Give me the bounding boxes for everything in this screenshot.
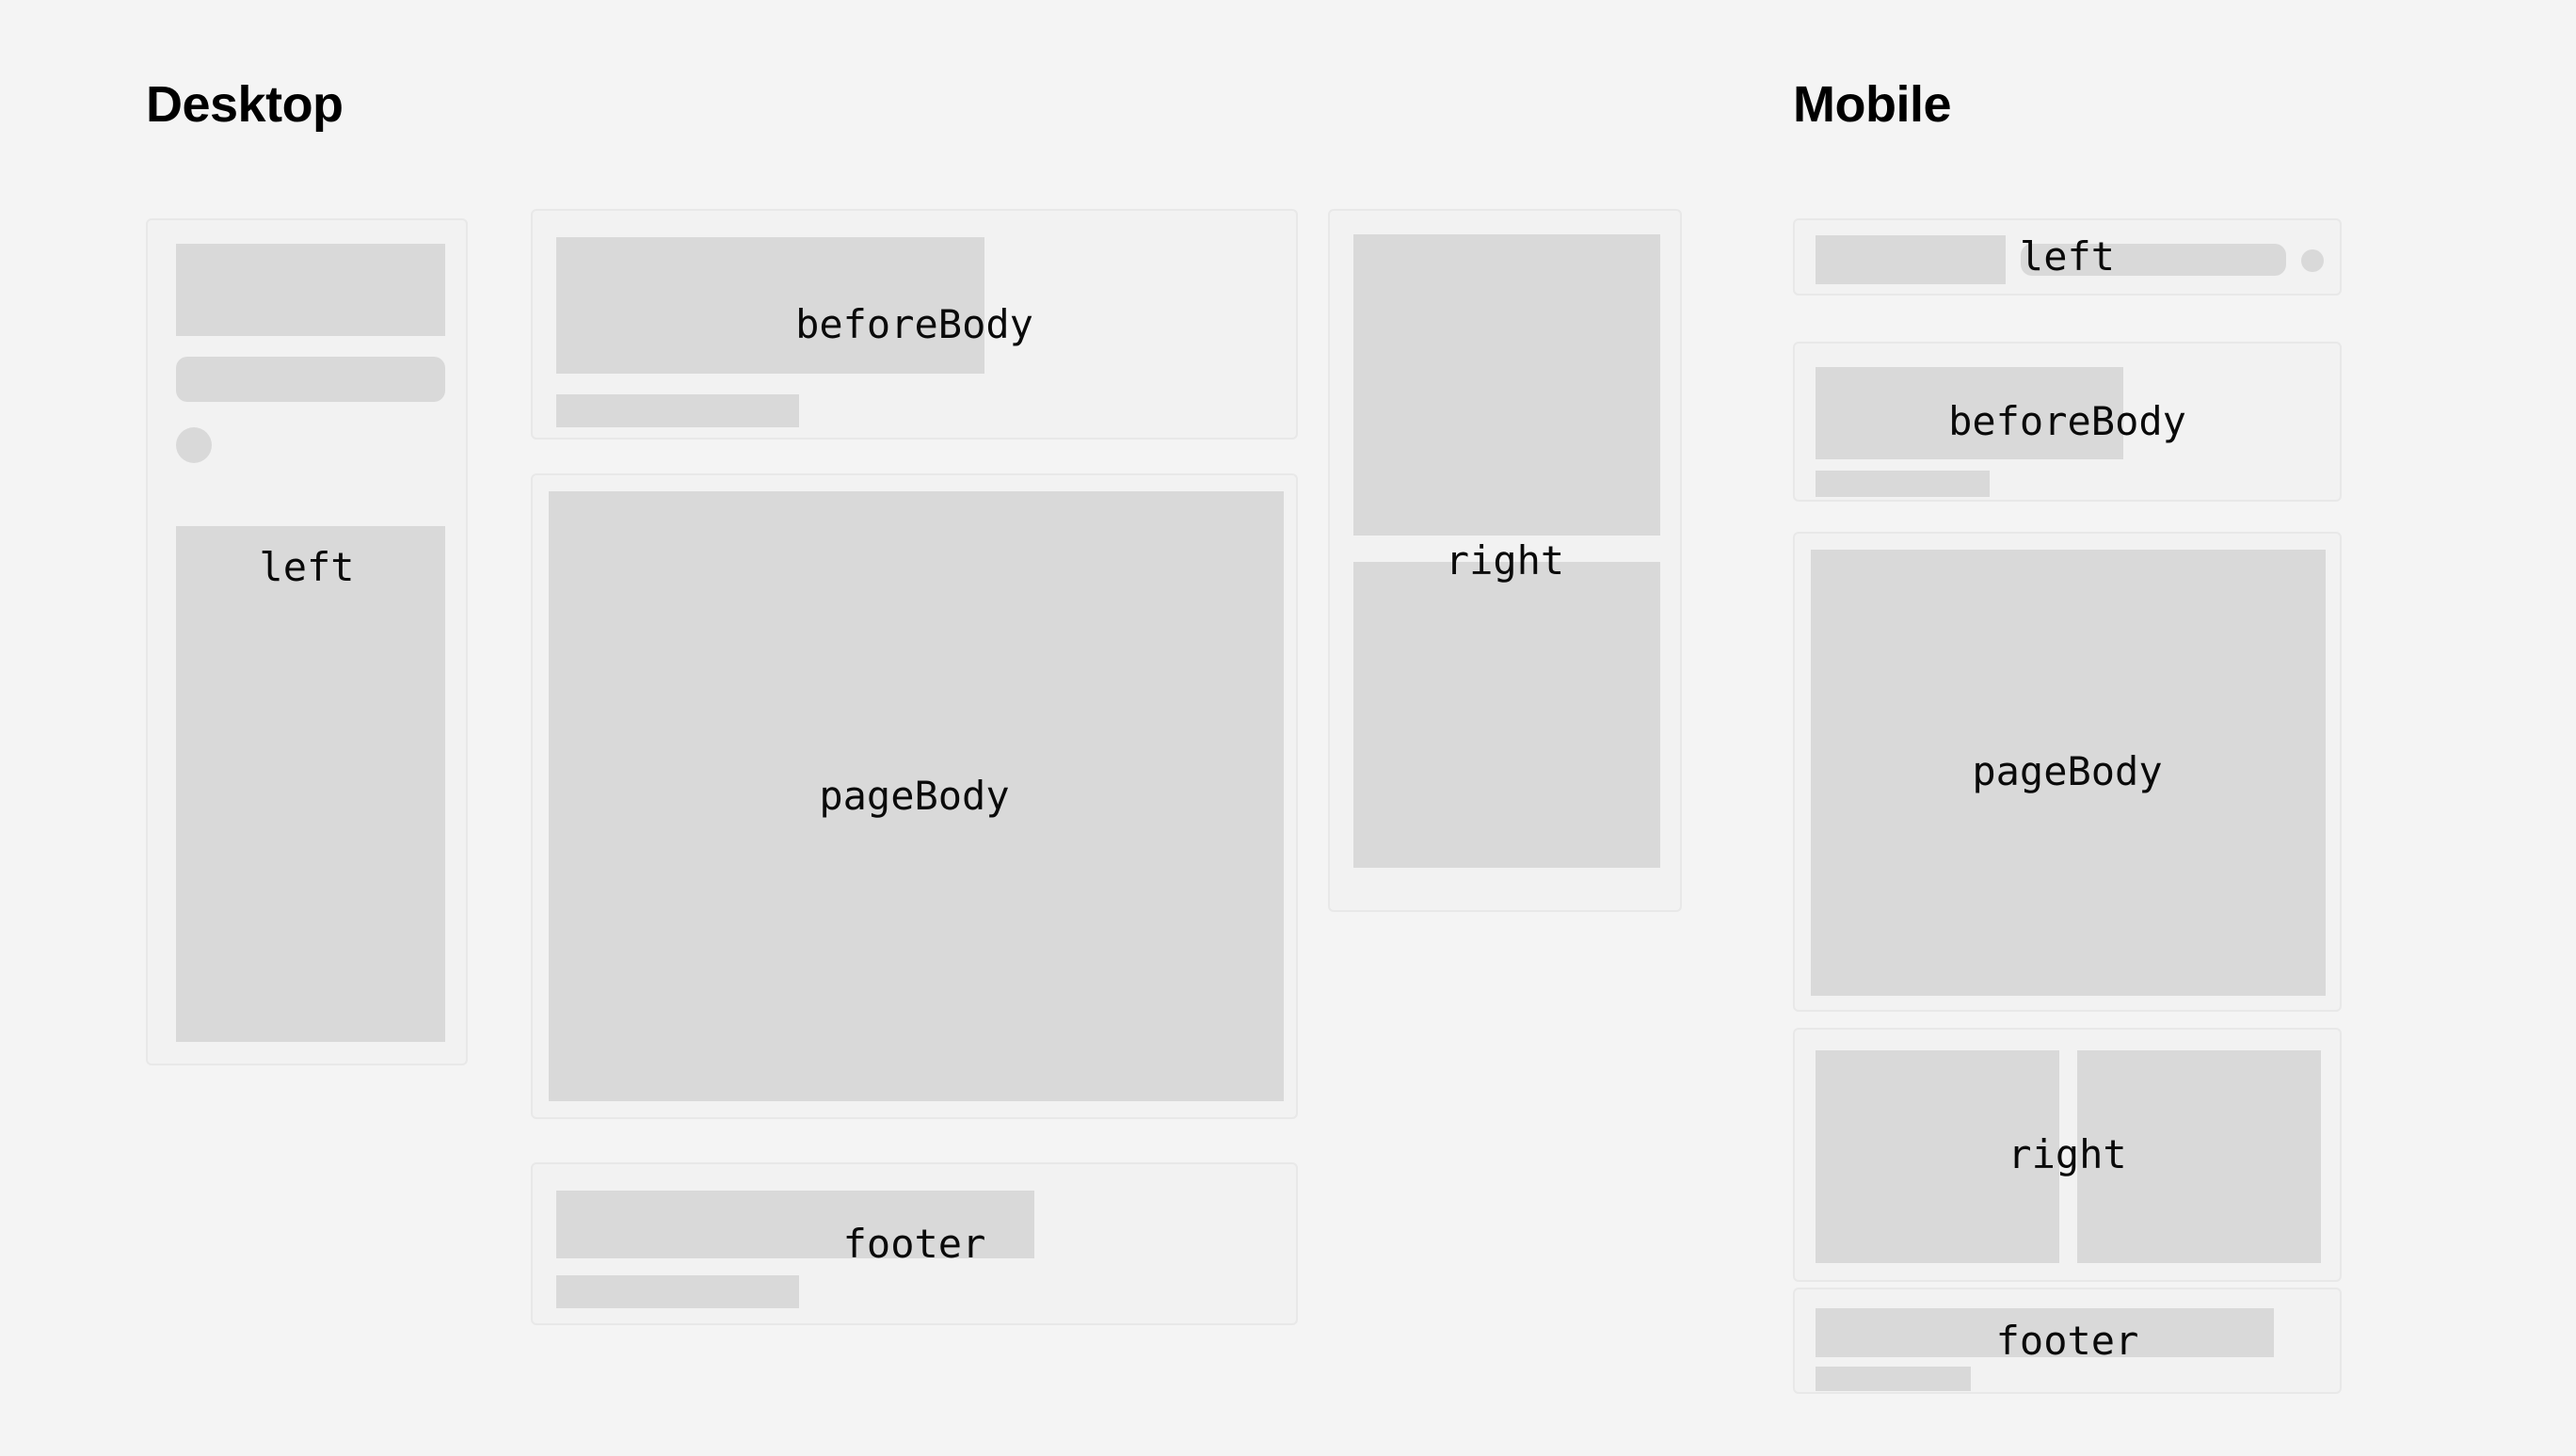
- mobile-slot-left[interactable]: left: [1793, 218, 2342, 296]
- mobile-section-title: Mobile: [1793, 79, 1951, 130]
- desktop-left-nav-list-placeholder: [176, 526, 445, 1042]
- desktop-left-avatar-placeholder: [176, 427, 212, 463]
- desktop-section-title: Desktop: [146, 79, 344, 130]
- mobile-slot-right[interactable]: right: [1793, 1028, 2342, 1282]
- desktop-left-nav-search-placeholder: [176, 357, 445, 402]
- mobile-right-widget-right-placeholder: [2077, 1050, 2321, 1263]
- mobile-right-widget-left-placeholder: [1816, 1050, 2059, 1263]
- mobile-pagebody-content-placeholder: [1811, 550, 2326, 996]
- mobile-left-avatar-placeholder: [2301, 249, 2324, 272]
- desktop-slot-beforebody[interactable]: beforeBody: [531, 209, 1298, 440]
- mobile-slot-footer[interactable]: footer: [1793, 1288, 2342, 1394]
- desktop-right-widget-top-placeholder: [1353, 234, 1660, 536]
- desktop-slot-pagebody[interactable]: pageBody: [531, 473, 1298, 1119]
- mobile-beforebody-subtitle-placeholder: [1816, 471, 1990, 497]
- mobile-left-nav-search-placeholder: [2021, 244, 2286, 276]
- desktop-slot-left[interactable]: left: [146, 218, 468, 1065]
- desktop-footer-main-placeholder: [556, 1191, 1034, 1258]
- desktop-footer-legal-placeholder: [556, 1275, 799, 1308]
- desktop-right-widget-bottom-placeholder: [1353, 562, 1660, 868]
- desktop-beforebody-subtitle-placeholder: [556, 394, 799, 427]
- layout-preview-canvas: Desktop left beforeBody pageBody footer …: [0, 0, 2576, 1456]
- desktop-slot-footer[interactable]: footer: [531, 1162, 1298, 1325]
- mobile-footer-legal-placeholder: [1816, 1367, 1971, 1391]
- mobile-slot-pagebody[interactable]: pageBody: [1793, 532, 2342, 1012]
- desktop-beforebody-banner-placeholder: [556, 237, 984, 374]
- mobile-slot-beforebody[interactable]: beforeBody: [1793, 342, 2342, 502]
- mobile-left-nav-header-placeholder: [1816, 235, 2006, 284]
- mobile-footer-main-placeholder: [1816, 1308, 2274, 1357]
- desktop-left-nav-header-placeholder: [176, 244, 445, 336]
- desktop-pagebody-content-placeholder: [549, 491, 1284, 1101]
- mobile-beforebody-banner-placeholder: [1816, 367, 2123, 459]
- desktop-slot-right[interactable]: right: [1328, 209, 1682, 912]
